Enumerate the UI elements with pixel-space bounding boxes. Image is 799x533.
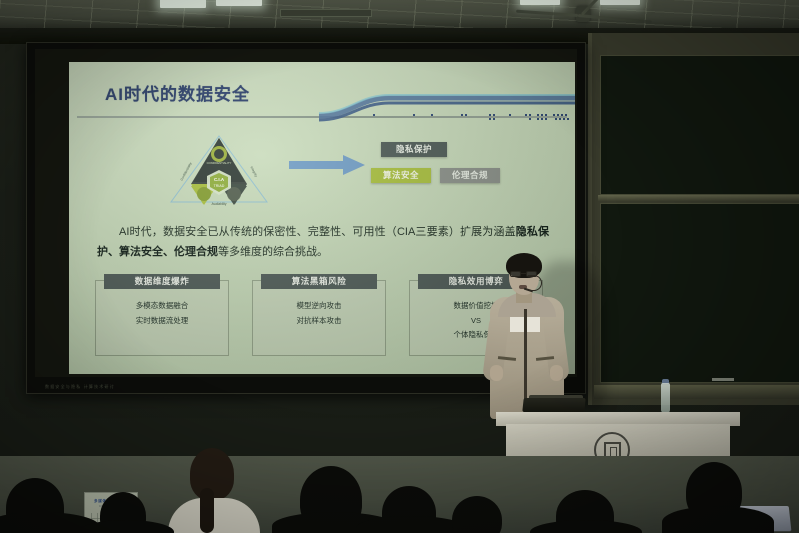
ceiling-light-1	[160, 0, 206, 8]
card-body: 模型逆向攻击 对抗样本攻击	[257, 299, 381, 328]
podium-laptop	[522, 398, 585, 412]
chalk-piece	[712, 378, 734, 381]
risk-cards: 数据维度爆炸 多模态数据融合 实时数据流处理 算法黑箱风险 模型逆向攻击 对抗样…	[95, 280, 551, 358]
card-algorithm-blackbox: 算法黑箱风险 模型逆向攻击 对抗样本攻击	[252, 280, 386, 356]
ceiling-vent	[280, 9, 372, 17]
card-title: 算法黑箱风险	[261, 274, 377, 289]
blackboard	[588, 33, 799, 405]
blackboard-panel-bottom	[600, 203, 799, 383]
screen-frame-label: 数据安全与隐私 计算技术研讨	[45, 384, 115, 390]
slide-title: AI时代的数据安全	[105, 80, 250, 105]
svg-text:TRIAD: TRIAD	[214, 184, 225, 188]
glasses-lens-left-icon	[510, 271, 521, 277]
lecture-hall-scene: AI时代的数据安全	[0, 0, 799, 533]
card-line: 实时数据流处理	[100, 314, 224, 329]
card-line: 模型逆向攻击	[257, 299, 381, 314]
body-text-segment-2: 等多维度的综合挑战。	[218, 246, 328, 258]
tag-privacy-protection: 隐私保护	[381, 142, 447, 157]
svg-text:CONFIDENTIALITY: CONFIDENTIALITY	[207, 161, 232, 165]
tag-algorithm-security: 算法安全	[371, 168, 431, 183]
presenter-hand-right	[550, 365, 563, 381]
presenter-hand-left	[490, 365, 503, 381]
body-text-segment-1: AI时代，数据安全已从传统的保密性、完整性、可用性（CIA三要素）扩展为涵盖	[119, 226, 516, 238]
card-data-dimension: 数据维度爆炸 多模态数据融合 实时数据流处理	[95, 280, 229, 356]
cia-triad-diagram: C.I.A TRIAD CONFIDENTIALITY Confidential…	[161, 132, 277, 206]
blackboard-rail	[598, 195, 799, 201]
ceiling-light-2	[216, 0, 262, 6]
svg-text:C.I.A: C.I.A	[214, 177, 225, 182]
presenter	[484, 253, 588, 418]
svg-text:Integrity: Integrity	[249, 166, 258, 178]
audience-braid	[200, 488, 214, 533]
blackboard-panel-top	[600, 55, 799, 195]
right-arrow-icon	[289, 154, 367, 176]
presenter-zipper	[524, 309, 527, 405]
ceiling-tile-grid	[0, 0, 799, 30]
card-line: 对抗样本攻击	[257, 314, 381, 329]
card-body: 多模态数据融合 实时数据流处理	[100, 299, 224, 328]
audience-shoulders	[356, 516, 466, 533]
svg-text:Confidentiality: Confidentiality	[180, 161, 193, 181]
glasses-bridge	[521, 273, 526, 274]
ceiling	[0, 0, 799, 30]
dot-pattern	[369, 112, 575, 120]
water-bottle	[661, 383, 670, 413]
slide-body-text: AI时代，数据安全已从传统的保密性、完整性、可用性（CIA三要素）扩展为涵盖隐私…	[97, 222, 549, 263]
tag-ethics-compliance: 伦理合规	[440, 168, 500, 183]
svg-text:Availability: Availability	[211, 202, 226, 206]
card-title: 数据维度爆炸	[104, 274, 220, 289]
audience-shoulders	[662, 506, 774, 533]
chalk-tray	[594, 385, 799, 399]
card-line: 多模态数据融合	[100, 299, 224, 314]
ceiling-light-3	[520, 0, 560, 5]
ceiling-light-4	[600, 0, 640, 5]
